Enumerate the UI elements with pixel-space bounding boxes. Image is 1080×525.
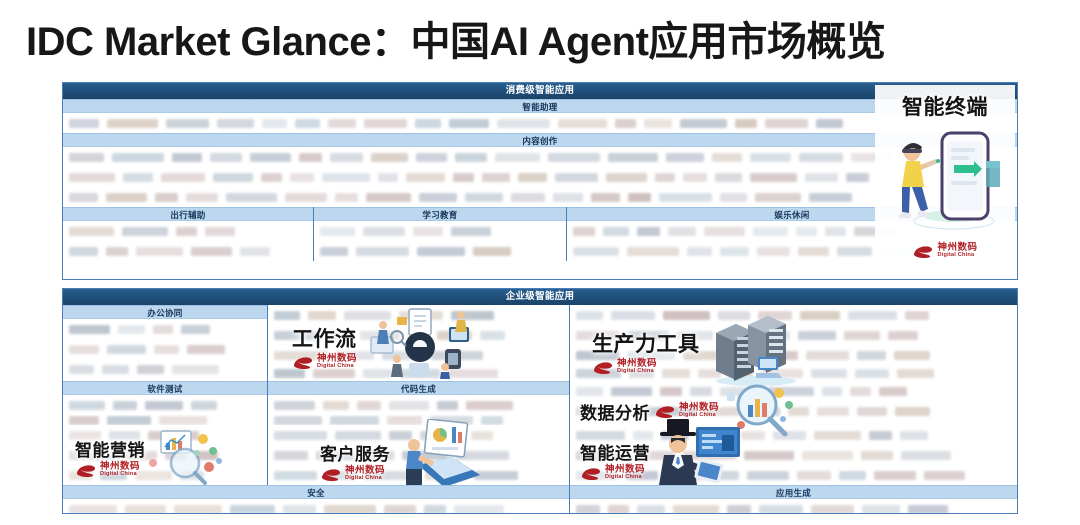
vendor-logo [805,173,838,182]
callout-smart-marketing: 智能营销 神州数码 Digital China [75,429,229,485]
logo-row [63,241,313,261]
logo-row [570,499,1017,514]
vendor-logo [166,119,209,128]
vendor-logo [419,193,457,202]
vendor-logo [901,451,951,460]
vendor-logo [295,119,320,128]
vendor-logo [644,119,672,128]
vendor-logo [759,505,803,514]
enterprise-cell-security: 安全 [63,485,569,514]
vendor-logo [69,247,98,256]
vendor-logo [153,325,173,334]
vendor-logo [320,227,355,236]
workflow-people-collaboration-icon [357,307,487,379]
enterprise-row-4: 安全 应用生成 [63,485,1017,514]
vendor-logo [683,173,707,182]
vendor-logo [366,193,411,202]
enterprise-section-header: 企业级智能应用 [63,289,1017,305]
vendor-logo [905,311,929,320]
logo-row [268,395,569,415]
vendor-logo [895,407,930,416]
brand-logo-digital-china: 神州数码 Digital China [75,462,140,478]
subheader-app-generation: 应用生成 [570,485,1017,499]
vendor-logo [558,119,607,128]
vendor-logo [874,471,916,480]
logo-row [63,187,1017,207]
vendor-logo [608,505,629,514]
vendor-logo [765,119,808,128]
callout-smart-terminal: 智能终端 [875,85,1015,277]
vendor-logo [857,351,886,360]
vendor-logo [806,351,849,360]
vendor-logo [69,505,117,514]
vendor-logo [136,247,183,256]
vendor-logo [817,407,849,416]
vendor-logo [850,387,871,396]
vendor-logo [413,227,443,236]
vendor-logo [894,351,930,360]
vendor-logo [356,247,409,256]
logo-row [63,319,267,339]
brand-logo-digital-china: 神州数码 Digital China [320,466,385,482]
page-title: IDC Market Glance：中国AI Agent应用市场概览 [26,18,1066,66]
vendor-logo [274,451,308,460]
subheader-security: 安全 [63,485,569,499]
vendor-logo [814,431,861,440]
vendor-logo [323,401,349,410]
person-laptop-dashboard-icon [392,419,484,495]
vendor-logo [274,471,317,480]
vendor-logo [107,416,151,425]
vendor-logo [809,193,852,202]
vendor-logo [848,311,897,320]
vendor-logo [673,505,719,514]
vendor-logo [606,173,647,182]
vendor-logo [417,247,465,256]
vendor-logo [161,173,205,182]
vendor-logo [628,193,651,202]
consumer-column-travel: 出行辅助 [63,207,313,261]
vendor-logo [735,119,757,128]
vendor-logo [172,365,219,374]
callout-productivity-tools: 生产力工具 神州数码 Digital China [592,315,802,387]
vendor-logo [553,193,583,202]
vendor-logo [328,119,356,128]
vendor-logo [176,227,197,236]
enterprise-cell-productivity: 生产力工具 神州数码 Digital China [569,305,1017,381]
vendor-logo [102,365,129,374]
vendor-logo [608,153,658,162]
subheader-software-testing: 软件测试 [63,381,267,395]
vendor-logo [155,193,178,202]
vendor-logo [615,119,636,128]
vendor-logo [753,227,788,236]
vendor-logo [320,247,348,256]
vendor-logo [720,247,749,256]
vendor-logo [900,431,928,440]
vendor-logo [627,247,679,256]
vendor-logo [205,227,235,236]
brand-name-en: Digital China [605,475,645,481]
vendor-logo [668,227,696,236]
vendor-logo [324,505,376,514]
vendor-logo [576,505,600,514]
logo-row [63,221,313,241]
vendor-logo [680,119,727,128]
vendor-logo [573,247,619,256]
vendor-logo [451,227,491,236]
vendor-logo [69,193,98,202]
vendor-logo [261,173,282,182]
vendor-logo [424,505,446,514]
vendor-logo [172,153,202,162]
callout-smart-operations-label: 智能运营 [580,439,650,464]
callout-customer-service-label: 客户服务 [320,440,390,465]
logo-row [314,241,566,261]
logo-row [63,395,267,415]
callout-productivity-tools-label: 生产力工具 [592,328,700,358]
server-racks-icon [706,311,802,387]
brand-name-en: Digital China [100,472,140,478]
vendor-logo [145,401,183,410]
enterprise-cell-smart-marketing: 智能营销 神州数码 Digital China [63,425,267,485]
enterprise-cell-software-testing: 软件测试 [63,381,267,425]
vendor-logo [69,401,105,410]
enterprise-cell-office-collab: 办公协同 [63,305,267,381]
brand-logo-digital-china: 神州数码 Digital China [580,465,645,481]
vendor-logo [122,227,168,236]
vendor-logo [371,153,408,162]
vendor-logo [453,173,474,182]
vendor-logo [107,119,158,128]
enterprise-cell-app-generation: 应用生成 [569,485,1017,514]
vendor-logo [154,345,179,354]
subheader-learning-education: 学习教育 [314,207,566,221]
vendor-logo [357,401,381,410]
enterprise-panel: 企业级智能应用 办公协同 工作流 [62,288,1018,514]
vendor-logo [466,401,513,410]
vendor-logo [107,345,146,354]
vendor-logo [637,227,660,236]
vendor-logo [181,325,210,334]
brand-logo-digital-china: 神州数码 Digital China [592,359,657,375]
vendor-logo [862,505,900,514]
vendor-logo [137,365,164,374]
consumer-category-columns: 出行辅助 学习教育 娱乐休闲 [63,207,1017,261]
vendor-logo [274,401,315,410]
vendor-logo [548,153,600,162]
callout-smart-terminal-label: 智能终端 [902,91,988,121]
vendor-logo [857,407,887,416]
vendor-logo [797,471,831,480]
brand-logo-digital-china: 神州数码 Digital China [292,354,357,370]
enterprise-cell-data-analysis: 数据分析 神州数码 Digital China [569,381,1017,425]
vendor-logo [825,227,846,236]
vendor-logo [839,471,866,480]
vendor-logo [240,247,270,256]
vendor-logo [191,401,217,410]
callout-workflow-label: 工作流 [292,323,357,353]
vendor-logo [187,345,225,354]
vendor-logo [118,325,145,334]
vendor-logo [226,193,277,202]
vendor-logo [720,193,747,202]
vendor-logo [69,416,99,425]
vendor-logo [811,505,854,514]
businessman-tophat-tablet-icon [652,417,748,493]
consumer-panel: 消费级智能应用 智能助理 内容创作 出行辅助 学习教育 娱乐休 [62,82,1018,280]
digital-china-swoosh-icon [580,465,602,481]
subheader-office-collaboration: 办公协同 [63,305,267,319]
vendor-logo [796,227,817,236]
vendor-logo [712,153,742,162]
enterprise-cell-smart-operations: 智能运营 神州数码 Digital China [569,425,1017,485]
vendor-logo [159,416,207,425]
digital-china-swoosh-icon [75,462,97,478]
logo-row [63,415,267,425]
digital-china-swoosh-icon [320,466,342,482]
vendor-logo [364,119,407,128]
vendor-logo [449,119,489,128]
vendor-logo [473,247,511,256]
callout-smart-operations: 智能运营 神州数码 Digital China [580,427,748,493]
vendor-logo [213,173,253,182]
vendor-logo [262,119,287,128]
vendor-logo [816,119,843,128]
vendor-logo [69,119,99,128]
vendor-logo [888,331,918,340]
vendor-logo [750,153,791,162]
vendor-logo [798,331,836,340]
vendor-logo [879,387,907,396]
vendor-logo [250,153,291,162]
vendor-logo [69,345,99,354]
vendor-logo [69,227,114,236]
logo-row [314,221,566,241]
vendor-logo [230,505,275,514]
vendor-logo [869,431,892,440]
vendor-logo [415,119,441,128]
vendor-logo [802,451,853,460]
subheader-code-generation: 代码生成 [268,381,569,395]
vendor-logo [335,193,358,202]
callout-smart-marketing-label: 智能营销 [75,436,145,461]
vendor-logo [924,471,965,480]
logo-row [63,359,267,379]
vendor-logo [495,153,540,162]
vendor-logo [454,505,504,514]
vendor-logo [687,247,712,256]
vendor-logo [113,401,137,410]
logo-row [63,113,1017,133]
brand-name-en: Digital China [345,476,385,482]
infographic-page: IDC Market Glance：中国AI Agent应用市场概览 消费级智能… [0,0,1080,525]
vendor-logo [655,173,675,182]
vendor-logo [174,505,222,514]
vendor-logo [69,153,104,162]
woman-with-smartphone-ar-icon [882,121,1008,241]
vendor-logo [363,227,405,236]
brand-name-en: Digital China [317,364,357,370]
vendor-logo [406,173,445,182]
vendor-logo [798,247,829,256]
subheader-intelligent-assistant: 智能助理 [63,99,1017,113]
vendor-logo [799,153,843,162]
vendor-logo [897,369,934,378]
vendor-logo [69,325,110,334]
vendor-logo [69,173,115,182]
vendor-logo [855,369,889,378]
vendor-logo [416,153,447,162]
vendor-logo [497,119,550,128]
vendor-logo [744,451,794,460]
vendor-logo [757,247,790,256]
magnifier-marketing-chart-icon [147,429,229,485]
enterprise-cell-workflow: 工作流 神州数码 Digital China [267,305,569,381]
digital-china-swoosh-icon [292,354,314,370]
vendor-logo [283,505,316,514]
vendor-logo [481,416,503,425]
vendor-logo [659,193,712,202]
vendor-logo [518,173,547,182]
vendor-logo [299,153,322,162]
vendor-logo [846,173,869,182]
digital-china-swoosh-icon [592,359,614,375]
vendor-logo [837,247,872,256]
vendor-logo [112,153,164,162]
enterprise-row-2: 软件测试 代码生成 数据分析 [63,381,1017,425]
vendor-logo [482,173,510,182]
brand-name-en: Digital China [617,369,657,375]
vendor-logo [69,365,94,374]
vendor-logo [811,369,847,378]
vendor-logo [455,153,487,162]
consumer-section-header: 消费级智能应用 [63,83,1017,99]
vendor-logo [186,193,218,202]
vendor-logo [603,227,629,236]
enterprise-row-1: 办公协同 工作流 [63,305,1017,381]
vendor-logo [511,193,545,202]
vendor-logo [330,416,379,425]
vendor-logo [125,505,166,514]
enterprise-cell-customer-service: 客户服务 神州数码 Digital China [267,425,569,485]
vendor-logo [106,193,147,202]
vendor-logo [384,505,416,514]
vendor-logo [573,227,595,236]
vendor-logo [747,471,789,480]
callout-workflow: 工作流 神州数码 Digital China [292,313,487,379]
vendor-logo [290,173,314,182]
vendor-logo [123,173,153,182]
vendor-logo [555,173,598,182]
vendor-logo [285,193,327,202]
vendor-logo [861,451,893,460]
vendor-logo [437,401,458,410]
vendor-logo [210,153,242,162]
digital-china-swoosh-icon [912,243,934,259]
vendor-logo [727,505,751,514]
vendor-logo [750,173,797,182]
subheader-travel-assist: 出行辅助 [63,207,313,221]
vendor-logo [637,505,665,514]
logo-row [63,167,1017,187]
market-glance-board: 消费级智能应用 智能助理 内容创作 出行辅助 学习教育 娱乐休 [62,82,1018,514]
vendor-logo [217,119,254,128]
vendor-logo [591,193,620,202]
enterprise-row-3: 智能营销 神州数码 Digital China [63,425,1017,485]
logo-row [63,147,1017,167]
vendor-logo [715,173,742,182]
vendor-logo [378,173,398,182]
vendor-logo [844,331,880,340]
consumer-column-education: 学习教育 [313,207,566,261]
vendor-logo [106,247,128,256]
vendor-logo [465,193,503,202]
vendor-logo [274,416,322,425]
vendor-logo [773,431,806,440]
vendor-logo [666,153,704,162]
vendor-logo [322,173,370,182]
callout-data-analysis-label: 数据分析 [580,399,650,424]
vendor-logo [704,227,745,236]
logo-row [63,339,267,359]
vendor-logo [800,311,840,320]
vendor-logo [330,153,363,162]
brand-logo-digital-china: 神州数码 Digital China [912,243,977,259]
logo-row [63,499,569,514]
subheader-content-creation: 内容创作 [63,133,1017,147]
vendor-logo [908,505,948,514]
vendor-logo [822,387,842,396]
vendor-logo [389,401,429,410]
vendor-logo [755,193,801,202]
vendor-logo [191,247,232,256]
brand-name-en: Digital China [937,253,977,259]
